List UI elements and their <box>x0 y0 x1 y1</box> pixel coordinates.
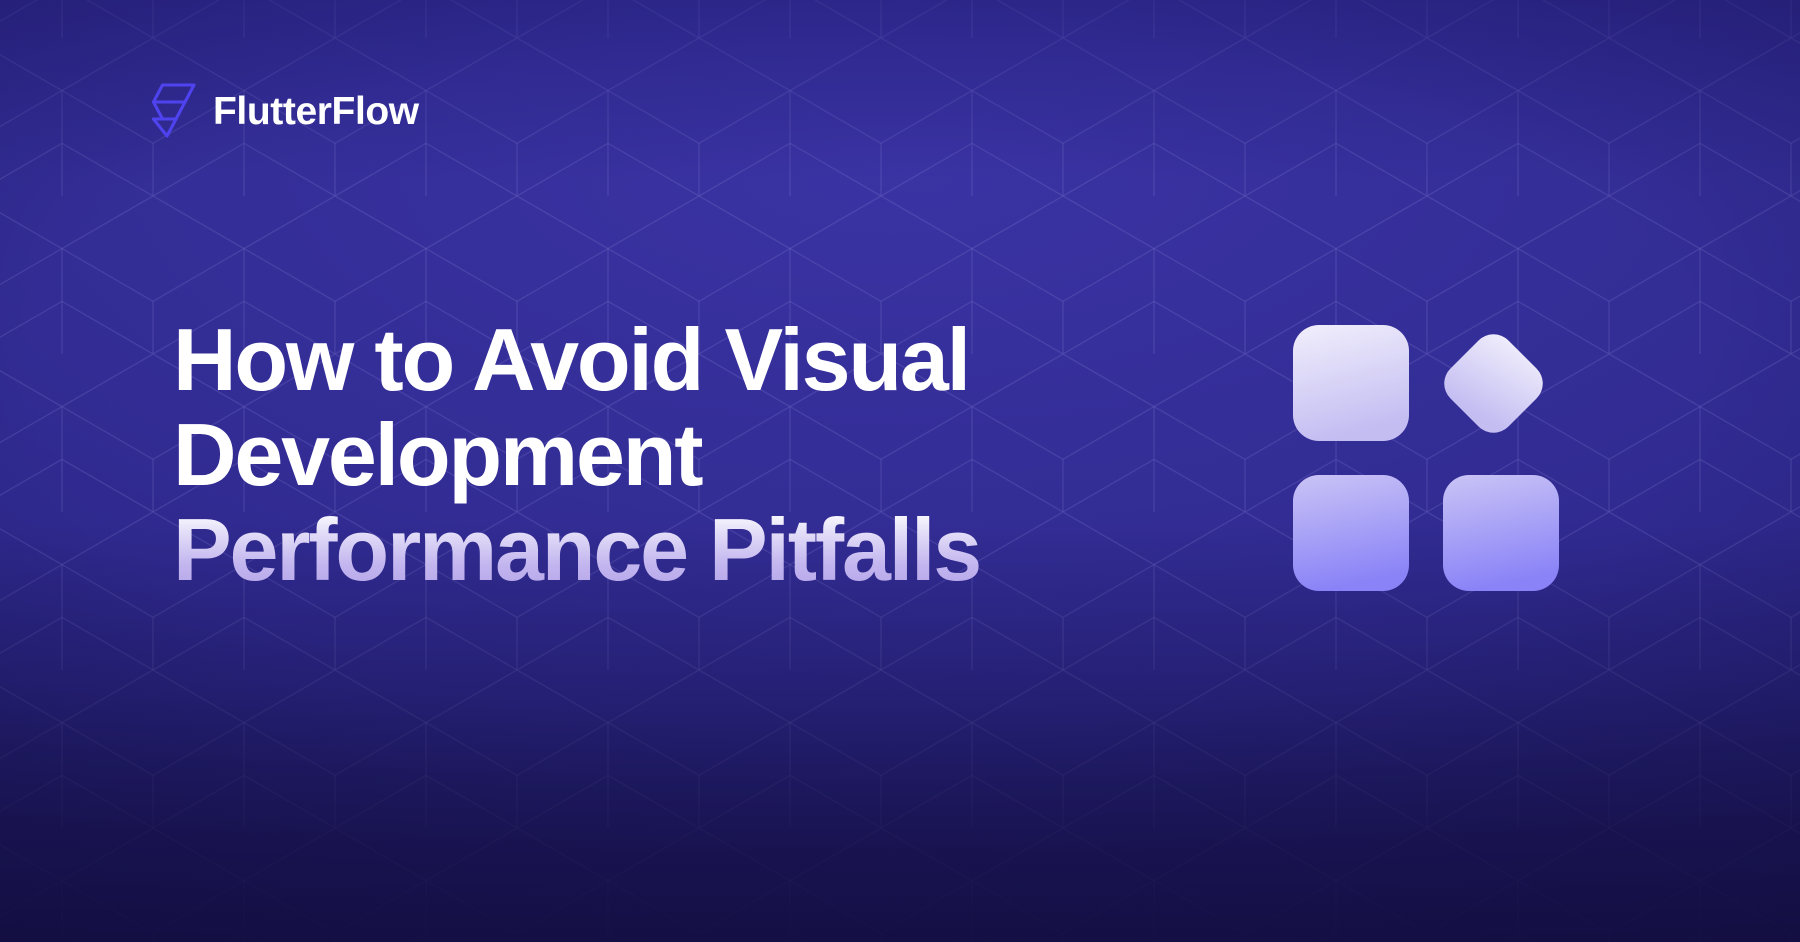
tile-top-right <box>1436 326 1552 442</box>
flutterflow-logo-mark-icon <box>149 82 197 140</box>
tile-bottom-right <box>1443 475 1559 591</box>
flutterflow-wordmark: FlutterFlow <box>213 92 419 131</box>
headline-line-1: How to Avoid Visual <box>173 316 1173 404</box>
four-tile-grid-icon <box>1293 325 1568 597</box>
headline-block: How to Avoid Visual Development Performa… <box>173 316 1173 601</box>
headline-line-3-accent: Performance Pitfalls <box>173 506 1173 594</box>
tile-top-left <box>1293 325 1409 441</box>
flutterflow-logo[interactable]: FlutterFlow <box>149 82 419 140</box>
cover-canvas: FlutterFlow How to Avoid Visual Developm… <box>0 0 1800 942</box>
headline-line-2: Development <box>173 411 1173 499</box>
tile-bottom-left <box>1293 475 1409 591</box>
